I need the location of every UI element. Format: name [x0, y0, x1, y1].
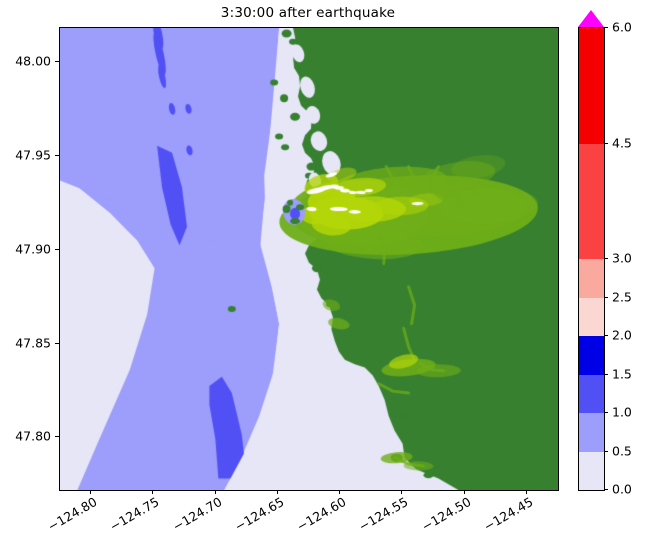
- colorbar-band: [579, 298, 604, 337]
- colorbar-tick-mark: [604, 489, 608, 490]
- page-title: 3:30:00 after earthquake: [59, 5, 557, 21]
- colorbar-band: [579, 336, 604, 375]
- colorbar-tick-label: 0.5: [612, 443, 632, 458]
- colorbar-tick-mark: [604, 143, 608, 144]
- y-tick-mark: [55, 343, 59, 344]
- y-tick-label: 47.90: [15, 241, 51, 256]
- x-tick-label: −124.65: [223, 494, 286, 539]
- colorbar-band: [579, 413, 604, 452]
- colorbar-tick-mark: [604, 451, 608, 452]
- x-tick-label: −124.70: [161, 494, 224, 539]
- colorbar-tick-label: 6.0: [612, 20, 632, 35]
- x-tick-label: −124.60: [286, 494, 349, 539]
- colorbar-extend-arrow-icon: [578, 10, 604, 27]
- colorbar-band: [579, 144, 604, 260]
- x-tick-label: −124.50: [410, 494, 473, 539]
- colorbar-tick-mark: [604, 258, 608, 259]
- x-tick-label: −124.45: [472, 494, 535, 539]
- x-tick-label: −124.75: [99, 494, 162, 539]
- x-tick-label: −124.55: [348, 494, 411, 539]
- y-tick-mark: [55, 249, 59, 250]
- colorbar-band: [579, 452, 604, 491]
- colorbar-tick-mark: [604, 374, 608, 375]
- colorbar-tick-label: 4.5: [612, 135, 632, 150]
- colorbar-tick-mark: [604, 412, 608, 413]
- colorbar-band: [579, 259, 604, 298]
- y-tick-mark: [55, 155, 59, 156]
- colorbar-tick-label: 2.0: [612, 328, 632, 343]
- colorbar-tick-label: 0.0: [612, 482, 632, 497]
- y-tick-label: 47.95: [15, 147, 51, 162]
- colorbar-tick-mark: [604, 335, 608, 336]
- figure-canvas: 3:30:00 after earthquake 47.8047.8547.90…: [0, 0, 651, 541]
- map-axes[interactable]: [59, 27, 559, 491]
- y-tick-label: 48.00: [15, 53, 51, 68]
- colorbar-tick-label: 2.5: [612, 289, 632, 304]
- colorbar-tick-mark: [604, 27, 608, 28]
- colorbar-tick-label: 1.5: [612, 366, 632, 381]
- y-tick-mark: [55, 61, 59, 62]
- y-tick-label: 47.85: [15, 335, 51, 350]
- y-tick-label: 47.80: [15, 429, 51, 444]
- x-tick-label: −124.80: [37, 494, 100, 539]
- colorbar-tick-mark: [604, 297, 608, 298]
- colorbar-band: [579, 375, 604, 414]
- colorbar[interactable]: [578, 27, 605, 491]
- colorbar-tick-label: 3.0: [612, 251, 632, 266]
- y-tick-mark: [55, 436, 59, 437]
- colorbar-tick-label: 1.0: [612, 405, 632, 420]
- tsunami-inundation-map[interactable]: [60, 28, 558, 490]
- colorbar-band: [579, 28, 604, 144]
